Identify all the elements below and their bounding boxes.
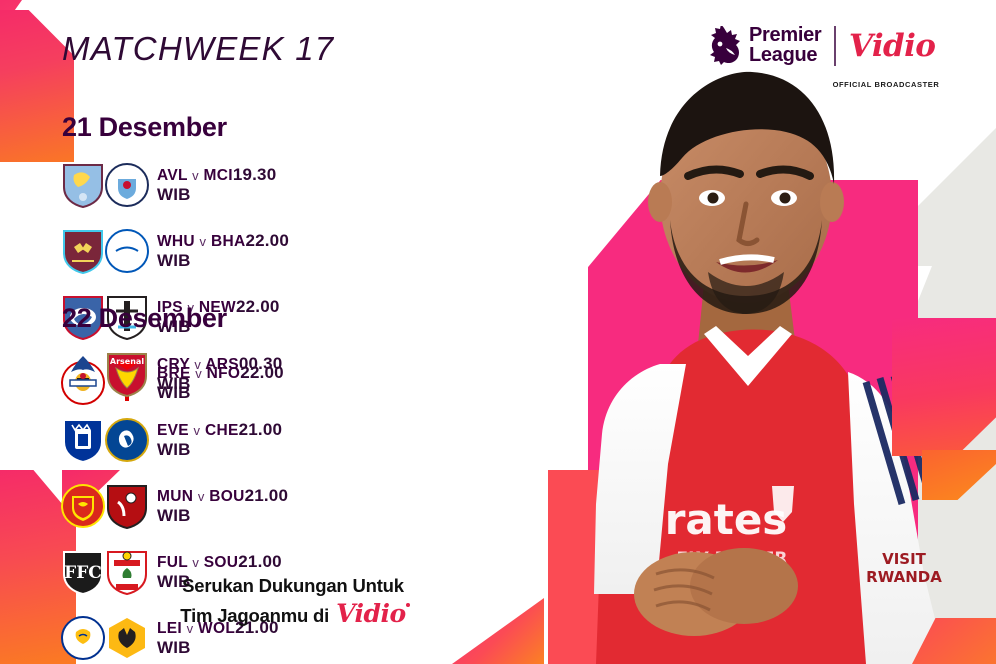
home-abbr: AVL [157, 167, 187, 184]
club-crest-arsenal: Arsenal [104, 350, 150, 398]
brand-bar: Premier League Vidio [706, 26, 935, 66]
home-abbr: CRY [157, 356, 190, 373]
fixture-row[interactable]: MUN v BOU21.00 WIB [60, 473, 282, 539]
svg-text:FFC: FFC [64, 563, 102, 583]
svg-text:Arsenal: Arsenal [110, 357, 144, 366]
away-abbr: CHE [205, 422, 239, 439]
fixture-row[interactable]: ArsenalCRY v ARS00.30 WIB [60, 341, 282, 407]
crest-pair [60, 161, 150, 209]
home-abbr: WHU [157, 233, 195, 250]
vidio-wordmark: Vidio [849, 28, 935, 64]
day-heading-1: 21 Desember [62, 112, 227, 143]
club-crest-brighton-hove-albion [104, 227, 150, 275]
premier-league-lion-icon [706, 26, 742, 66]
away-abbr: BOU [209, 488, 244, 505]
footer-vidio-dot-icon [406, 603, 410, 607]
fixture-text: AVL v MCI19.30 WIB [157, 165, 282, 205]
fixture-text: CRY v ARS00.30 WIB [157, 354, 282, 394]
matchweek-poster: rates FLY BETTER VISIT RWANDA [0, 0, 996, 664]
versus-label: v [192, 555, 199, 570]
club-crest-fulham: FFC [60, 548, 106, 596]
svg-text:VISIT: VISIT [882, 550, 927, 568]
club-crest-aston-villa [60, 161, 106, 209]
versus-label: v [200, 234, 207, 249]
day-heading-2: 22 Desember [62, 303, 227, 334]
left-accent-shape-small [0, 0, 22, 48]
page-title: MATCHWEEK 17 [62, 30, 334, 68]
club-crest-bournemouth [104, 482, 150, 530]
footer-line-2: Tim Jagoanmu di [180, 605, 329, 627]
premier-league-wordmark: Premier League [749, 26, 821, 65]
club-crest-chelsea [104, 416, 150, 464]
fixture-text: MUN v BOU21.00 WIB [157, 486, 288, 526]
club-crest-leicester-city [60, 614, 106, 662]
away-abbr: SOU [204, 554, 239, 571]
fixture-teams: FUL v SOU [157, 554, 238, 571]
club-crest-manchester-united [60, 482, 106, 530]
fixture-teams: WHU v BHA [157, 233, 245, 250]
league-text: League [749, 44, 817, 66]
fixture-teams: AVL v MCI [157, 167, 233, 184]
premier-league-logo: Premier League [706, 26, 821, 66]
fixture-row[interactable]: AVL v MCI19.30 WIB [60, 152, 282, 218]
fixture-teams: CRY v ARS [157, 356, 239, 373]
away-abbr: MCI [204, 167, 233, 184]
fixture-text: WHU v BHA22.00 WIB [157, 231, 289, 271]
vidio-logo: Vidio [849, 28, 935, 64]
footer-line-2-row: Tim Jagoanmu di Vidio [128, 599, 458, 628]
versus-label: v [194, 423, 201, 438]
crest-pair [60, 482, 150, 530]
home-abbr: FUL [157, 554, 188, 571]
svg-text:rates: rates [665, 495, 788, 544]
crest-pair: Arsenal [60, 350, 150, 398]
brand-divider [834, 26, 836, 66]
home-abbr: MUN [157, 488, 193, 505]
club-crest-crystal-palace [60, 350, 106, 398]
versus-label: v [198, 489, 205, 504]
footer-vidio-text: Vidio [336, 599, 406, 628]
player-photo: rates FLY BETTER VISIT RWANDA [536, 34, 996, 664]
fixture-text: EVE v CHE21.00 WIB [157, 420, 282, 460]
away-abbr: BHA [211, 233, 245, 250]
club-crest-west-ham-united [60, 227, 106, 275]
footer-line-1: Serukan Dukungan Untuk [128, 575, 458, 597]
crest-pair [60, 227, 150, 275]
footer-vidio-wordmark: Vidio [336, 599, 406, 628]
crest-pair [60, 416, 150, 464]
away-abbr: ARS [205, 356, 239, 373]
home-abbr: EVE [157, 422, 189, 439]
official-broadcaster-note: OFFICIAL BROADCASTER [806, 80, 966, 89]
club-crest-manchester-city [104, 161, 150, 209]
svg-text:RWANDA: RWANDA [866, 568, 942, 586]
fixture-row[interactable]: WHU v BHA22.00 WIB [60, 218, 282, 284]
fixture-teams: MUN v BOU [157, 488, 245, 505]
versus-label: v [194, 357, 201, 372]
footer-cta: Serukan Dukungan Untuk Tim Jagoanmu di V… [128, 575, 458, 628]
fixture-teams: EVE v CHE [157, 422, 239, 439]
versus-label: v [192, 168, 199, 183]
club-crest-everton [60, 416, 106, 464]
fixture-row[interactable]: EVE v CHE21.00 WIB [60, 407, 282, 473]
